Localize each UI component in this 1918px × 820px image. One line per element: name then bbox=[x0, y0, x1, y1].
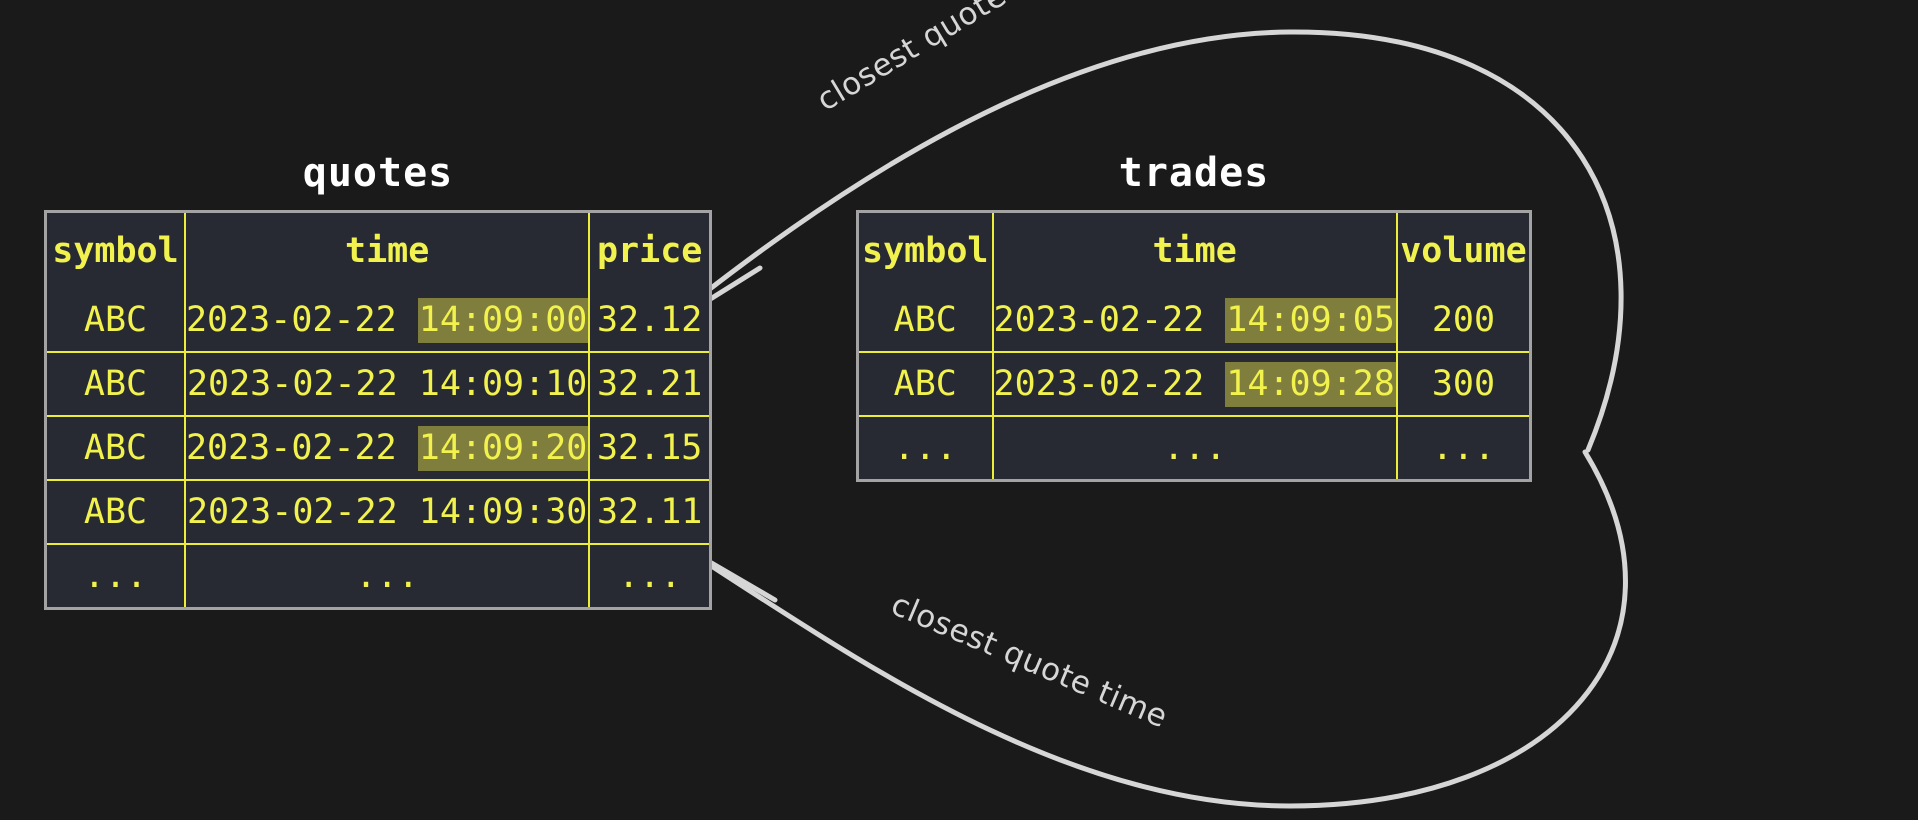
quotes-ellipsis-symbol: ... bbox=[47, 544, 185, 607]
trades-ellipsis-volume: ... bbox=[1397, 416, 1529, 479]
quotes-cell-symbol: ABC bbox=[47, 416, 185, 480]
trades-table-frame: symbol time volume ABC 2023-02-22 14:09:… bbox=[856, 210, 1532, 482]
quotes-cell-price: 32.11 bbox=[589, 480, 709, 544]
quotes-table-title: quotes bbox=[44, 150, 712, 196]
trades-cell-time: 2023-02-22 14:09:05 bbox=[993, 289, 1397, 352]
table-row: ABC 2023-02-22 14:09:30 32.11 bbox=[47, 480, 709, 544]
trades-date-1: 2023-02-22 bbox=[994, 364, 1205, 404]
quotes-cell-price: 32.15 bbox=[589, 416, 709, 480]
quotes-ellipsis-price: ... bbox=[589, 544, 709, 607]
trades-col-volume: volume bbox=[1397, 213, 1529, 289]
trades-cell-symbol: ABC bbox=[859, 289, 993, 352]
table-row: ABC 2023-02-22 14:09:20 32.15 bbox=[47, 416, 709, 480]
quotes-col-price: price bbox=[589, 213, 709, 289]
table-row: ABC 2023-02-22 14:09:05 200 bbox=[859, 289, 1529, 352]
trades-table: symbol time volume ABC 2023-02-22 14:09:… bbox=[859, 213, 1529, 479]
trades-date-0: 2023-02-22 bbox=[994, 300, 1205, 340]
quotes-cell-time: 2023-02-22 14:09:10 bbox=[185, 352, 589, 416]
connector-arrow-bottom bbox=[660, 452, 1625, 806]
quotes-cell-time: 2023-02-22 14:09:30 bbox=[185, 480, 589, 544]
trades-col-time: time bbox=[993, 213, 1397, 289]
quotes-time-highlight-2: 14:09:20 bbox=[418, 426, 589, 471]
quotes-col-symbol: symbol bbox=[47, 213, 185, 289]
trades-table-block: trades symbol time volume ABC 2023-02-22… bbox=[856, 150, 1532, 482]
arc-label-closest-quote-time-top: closest quote time bbox=[811, 0, 1084, 118]
table-row: ABC 2023-02-22 14:09:28 300 bbox=[859, 352, 1529, 416]
quotes-table-block: quotes symbol time price ABC 2023-02-22 … bbox=[44, 150, 712, 610]
quotes-cell-symbol: ABC bbox=[47, 480, 185, 544]
quotes-table-frame: symbol time price ABC 2023-02-22 14:09:0… bbox=[44, 210, 712, 610]
trades-ellipsis-time: ... bbox=[993, 416, 1397, 479]
quotes-time-highlight-0: 14:09:00 bbox=[418, 298, 589, 343]
arc-label-closest-quote-time-bottom: closest quote time bbox=[886, 586, 1173, 735]
quotes-cell-time: 2023-02-22 14:09:00 bbox=[185, 289, 589, 352]
diagram-canvas: quotes symbol time price ABC 2023-02-22 … bbox=[0, 0, 1918, 820]
trades-cell-volume: 200 bbox=[1397, 289, 1529, 352]
trades-table-title: trades bbox=[856, 150, 1532, 196]
table-row: ABC 2023-02-22 14:09:00 32.12 bbox=[47, 289, 709, 352]
quotes-ellipsis-row: ... ... ... bbox=[47, 544, 709, 607]
quotes-date-0: 2023-02-22 bbox=[186, 300, 397, 340]
trades-time-highlight-0: 14:09:05 bbox=[1225, 298, 1396, 343]
trades-cell-symbol: ABC bbox=[859, 352, 993, 416]
trades-cell-volume: 300 bbox=[1397, 352, 1529, 416]
quotes-ellipsis-time: ... bbox=[185, 544, 589, 607]
quotes-header-row: symbol time price bbox=[47, 213, 709, 289]
quotes-col-time: time bbox=[185, 213, 589, 289]
trades-header-row: symbol time volume bbox=[859, 213, 1529, 289]
trades-cell-time: 2023-02-22 14:09:28 bbox=[993, 352, 1397, 416]
quotes-time-3: 14:09:30 bbox=[419, 492, 588, 532]
quotes-cell-price: 32.12 bbox=[589, 289, 709, 352]
trades-time-highlight-1: 14:09:28 bbox=[1225, 362, 1396, 407]
quotes-table: symbol time price ABC 2023-02-22 14:09:0… bbox=[47, 213, 709, 607]
trades-ellipsis-row: ... ... ... bbox=[859, 416, 1529, 479]
quotes-cell-symbol: ABC bbox=[47, 289, 185, 352]
quotes-cell-price: 32.21 bbox=[589, 352, 709, 416]
quotes-cell-symbol: ABC bbox=[47, 352, 185, 416]
trades-col-symbol: symbol bbox=[859, 213, 993, 289]
quotes-date-2: 2023-02-22 bbox=[186, 428, 397, 468]
table-row: ABC 2023-02-22 14:09:10 32.21 bbox=[47, 352, 709, 416]
quotes-date-1: 2023-02-22 bbox=[187, 364, 398, 404]
trades-ellipsis-symbol: ... bbox=[859, 416, 993, 479]
quotes-date-3: 2023-02-22 bbox=[187, 492, 398, 532]
quotes-time-1: 14:09:10 bbox=[419, 364, 588, 404]
quotes-cell-time: 2023-02-22 14:09:20 bbox=[185, 416, 589, 480]
